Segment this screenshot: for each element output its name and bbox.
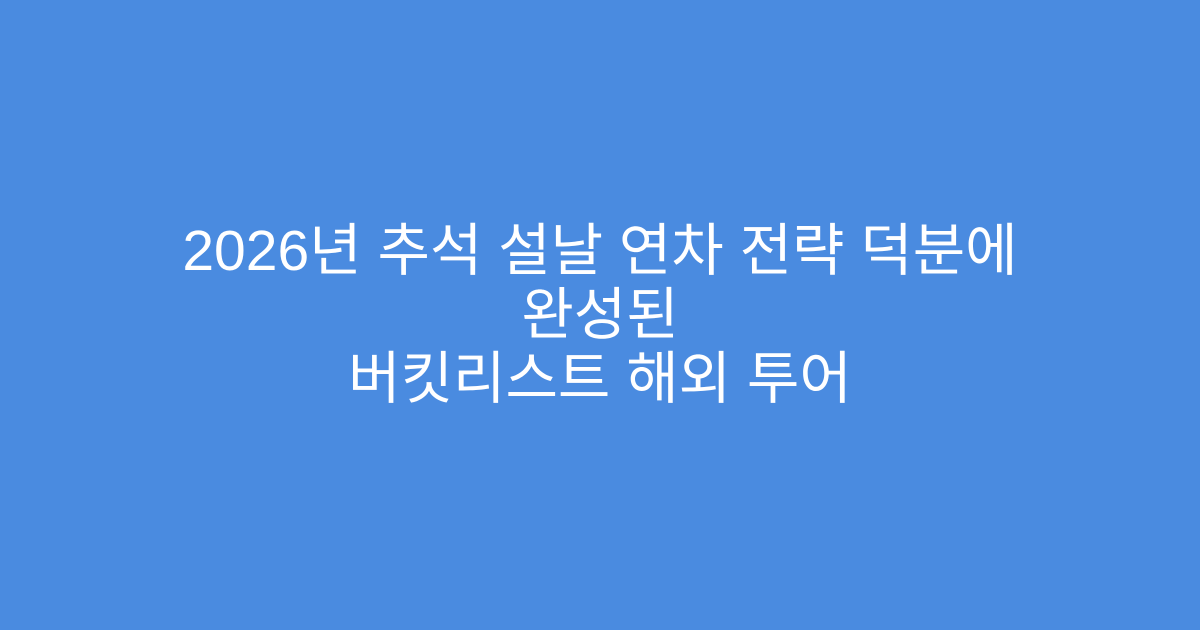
page-title: 2026년 추석 설날 연차 전략 덕분에 완성된 버킷리스트 해외 투어 bbox=[100, 219, 1100, 411]
og-card-canvas: 2026년 추석 설날 연차 전략 덕분에 완성된 버킷리스트 해외 투어 bbox=[0, 0, 1200, 630]
